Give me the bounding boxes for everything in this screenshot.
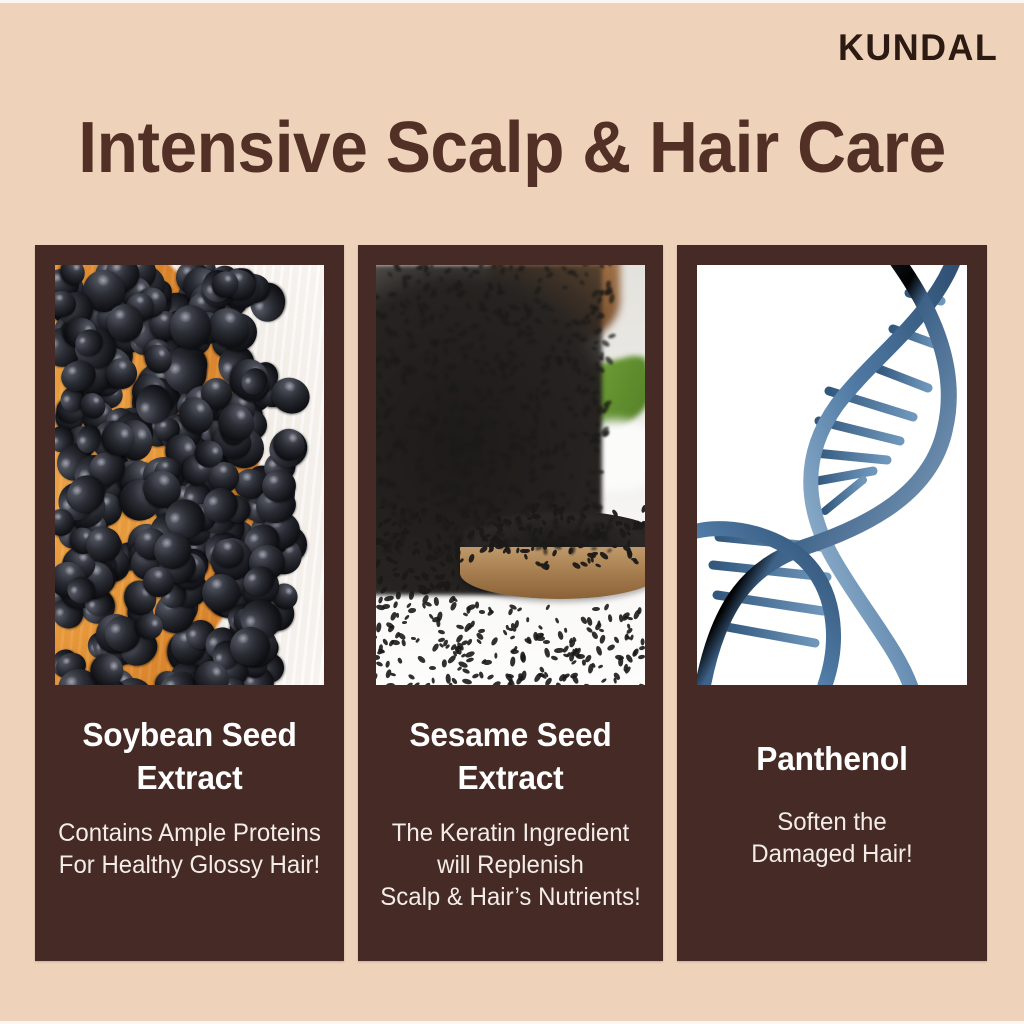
page-title: Intensive Scalp & Hair Care <box>31 111 994 185</box>
ingredient-card-soybean[interactable]: Soybean Seed Extract Contains Ample Prot… <box>35 245 344 961</box>
sesame-scene-background <box>376 265 645 685</box>
ingredient-description: Soften the Damaged Hair! <box>683 806 981 870</box>
scattered-sesame-seeds <box>376 265 645 685</box>
ingredient-title: Sesame Seed Extract <box>364 713 657 799</box>
ingredient-card-panthenol[interactable]: Panthenol Soften the Damaged Hair! <box>677 245 987 961</box>
soybean-seed-photo <box>55 265 324 685</box>
ingredient-title: Soybean Seed Extract <box>41 713 338 799</box>
description-line: The Keratin Ingredient <box>372 817 649 849</box>
ingredient-description: Contains Ample Proteins For Healthy Glos… <box>41 817 338 881</box>
ingredient-description: The Keratin Ingredient will Replenish Sc… <box>364 817 657 913</box>
dna-helix-photo <box>697 265 967 685</box>
ingredient-card-row: Soybean Seed Extract Contains Ample Prot… <box>35 245 989 961</box>
dna-double-helix-icon <box>697 265 967 685</box>
sesame-seed-photo <box>376 265 645 685</box>
dna-scene-background <box>697 265 967 685</box>
product-infographic-poster: KUNDAL Intensive Scalp & Hair Care Soybe… <box>0 0 1024 1024</box>
description-line: Damaged Hair! <box>691 838 973 870</box>
black-soybeans-cluster <box>55 265 324 685</box>
description-line: Scalp & Hair’s Nutrients! <box>372 881 649 913</box>
ingredient-title: Panthenol <box>683 737 981 780</box>
brand-logo: KUNDAL <box>838 27 998 69</box>
description-line: For Healthy Glossy Hair! <box>49 849 330 881</box>
ingredient-card-sesame[interactable]: Sesame Seed Extract The Keratin Ingredie… <box>358 245 663 961</box>
description-line: will Replenish <box>372 849 649 881</box>
description-line: Contains Ample Proteins <box>49 817 330 849</box>
description-line: Soften the <box>691 806 973 838</box>
